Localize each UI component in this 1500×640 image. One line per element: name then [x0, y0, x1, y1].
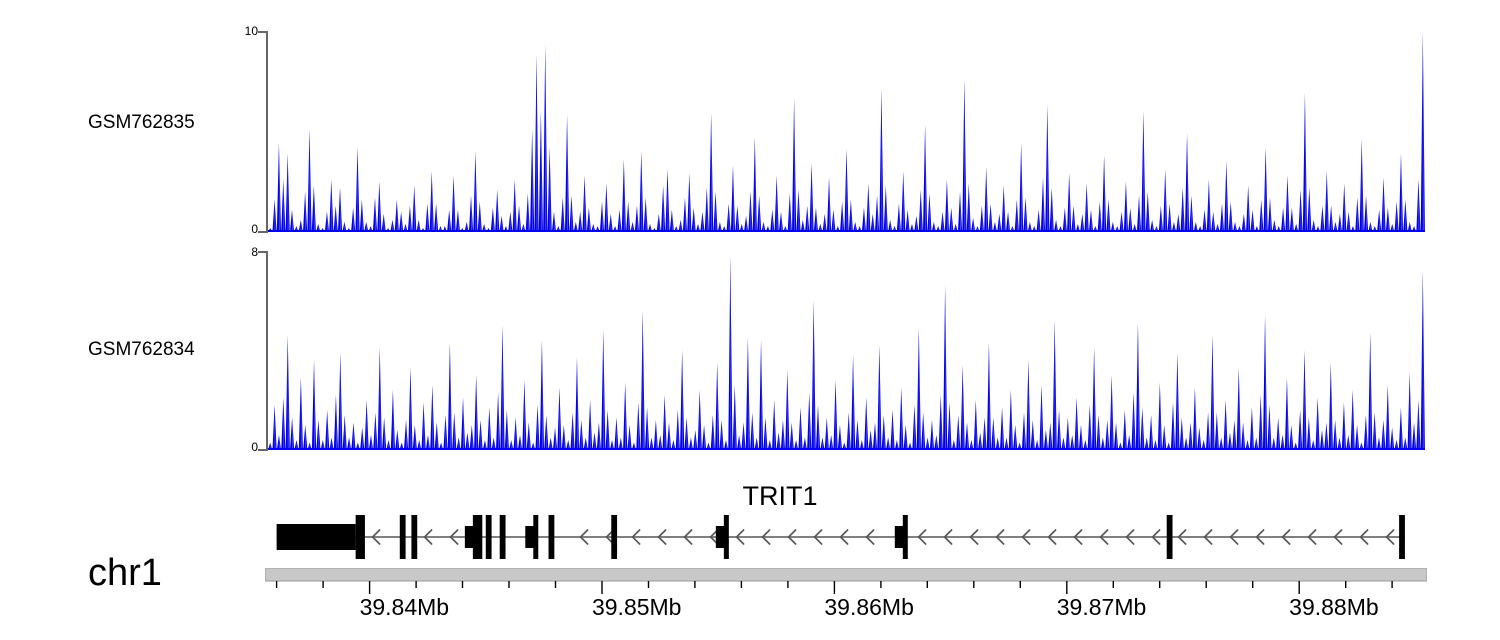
track1-axis-min-label: 0: [228, 222, 258, 236]
ruler-tick-label-0: 39.84Mb: [360, 594, 450, 621]
ruler-tick-label-4: 39.88Mb: [1289, 594, 1379, 621]
track2-axis-max-label: 8: [228, 245, 258, 259]
track2-axis-min-label: 0: [228, 440, 258, 454]
signal-track-gsm762834[interactable]: [268, 250, 1425, 450]
ruler-tick-label-2: 39.86Mb: [824, 594, 914, 621]
ruler-tick-label-3: 39.87Mb: [1057, 594, 1147, 621]
track-label-gsm762835: GSM762835: [88, 112, 195, 134]
track-label-gsm762834: GSM762834: [88, 339, 195, 361]
track1-y-axis: [258, 30, 268, 232]
track1-axis-max-label: 10: [228, 24, 258, 38]
track2-y-axis: [258, 250, 268, 450]
ruler-tick-label-1: 39.85Mb: [592, 594, 682, 621]
gene-model-track[interactable]: [265, 508, 1427, 566]
signal-track-gsm762835[interactable]: [268, 30, 1425, 232]
chromosome-label: chr1: [88, 552, 162, 595]
coordinate-ruler[interactable]: [265, 568, 1427, 594]
